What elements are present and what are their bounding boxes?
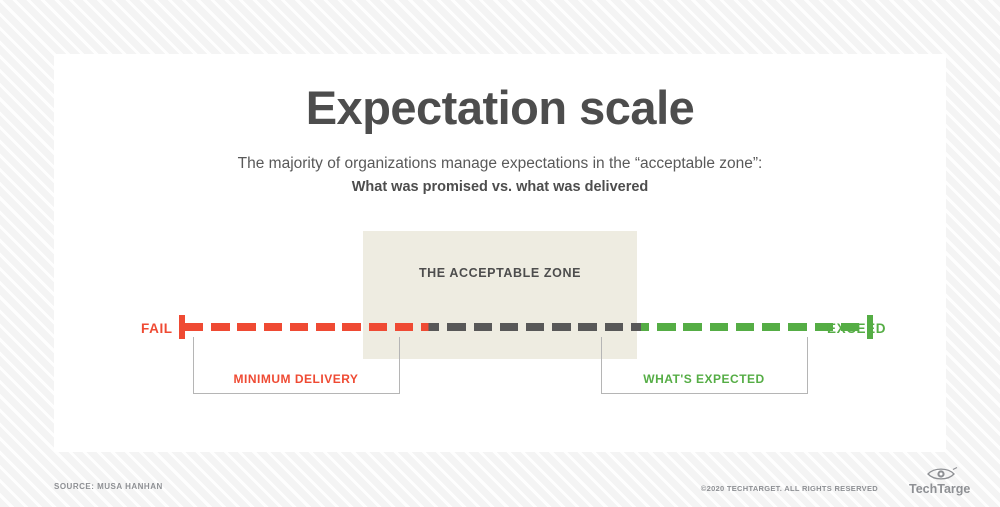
minimum-delivery-label: MINIMUM DELIVERY xyxy=(193,372,399,386)
scale-dash xyxy=(395,323,413,331)
expectation-scale-chart: THE ACCEPTABLE ZONE FAIL EXCEED MINIMUM … xyxy=(54,54,946,452)
scale-dash xyxy=(264,323,282,331)
eye-lash-icon xyxy=(953,468,957,470)
techtarget-logo: TechTarget xyxy=(908,464,970,498)
exceed-end-label: EXCEED xyxy=(827,322,886,336)
scale-dash xyxy=(237,323,255,331)
eye-pupil-highlight-icon xyxy=(940,473,943,476)
scale-dash xyxy=(500,323,518,331)
scale-axis-line xyxy=(179,319,873,334)
scale-dash xyxy=(447,323,465,331)
scale-dash xyxy=(710,323,728,331)
infographic-card: Expectation scale The majority of organi… xyxy=(54,54,946,452)
fail-end-label: FAIL xyxy=(141,322,173,336)
acceptable-zone-label: THE ACCEPTABLE ZONE xyxy=(363,266,637,280)
scale-dash xyxy=(762,323,780,331)
scale-dash xyxy=(788,323,806,331)
scale-dash xyxy=(526,323,544,331)
scale-dash xyxy=(369,323,387,331)
scale-dash xyxy=(211,323,229,331)
scale-dash xyxy=(736,323,754,331)
scale-dash xyxy=(578,323,596,331)
whats-expected-label: WHAT'S EXPECTED xyxy=(601,372,807,386)
scale-dash xyxy=(290,323,308,331)
scale-dash xyxy=(474,323,492,331)
scale-dash xyxy=(683,323,701,331)
source-attribution: SOURCE: MUSA HANHAN xyxy=(54,483,163,491)
scale-dash xyxy=(316,323,334,331)
scale-dash xyxy=(421,323,439,331)
scale-dash xyxy=(605,323,623,331)
techtarget-wordmark: TechTarget xyxy=(909,482,970,496)
acceptable-zone-band xyxy=(363,231,637,359)
scale-dash xyxy=(631,323,649,331)
scale-dash xyxy=(185,323,203,331)
scale-dash xyxy=(552,323,570,331)
copyright-notice: ©2020 TECHTARGET. ALL RIGHTS RESERVED xyxy=(701,485,878,493)
scale-dash xyxy=(657,323,675,331)
scale-dash xyxy=(342,323,360,331)
